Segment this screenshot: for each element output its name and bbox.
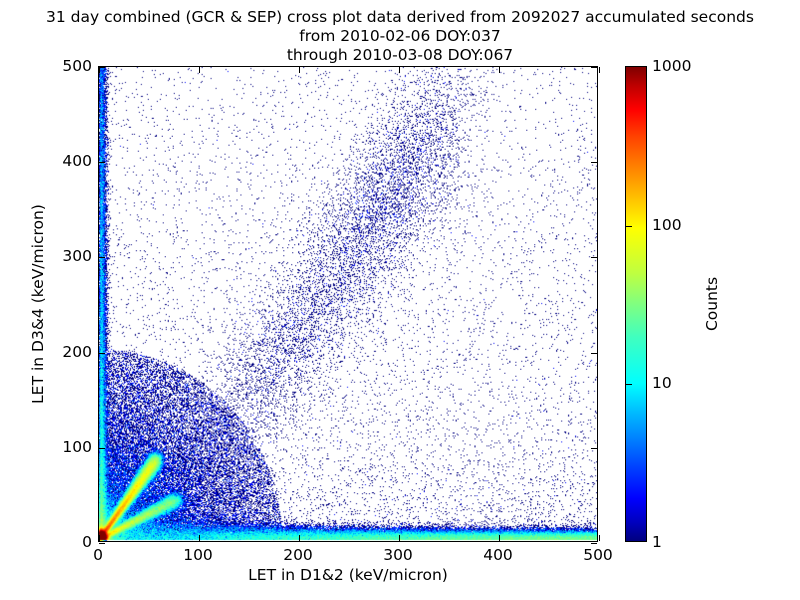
x-tick: [99, 535, 100, 541]
title-line-2: from 2010-02-06 DOY:037: [0, 27, 800, 46]
x-tick-label: 300: [383, 546, 413, 564]
y-tick-label: 0: [82, 533, 92, 551]
y-tick: [99, 257, 105, 258]
scatter-heatmap-canvas: [99, 67, 597, 541]
y-tick: [591, 543, 597, 544]
x-tick-label: 200: [283, 546, 313, 564]
x-tick: [199, 67, 200, 73]
y-tick: [99, 543, 105, 544]
y-tick: [591, 353, 597, 354]
figure: 31 day combined (GCR & SEP) cross plot d…: [0, 0, 800, 600]
y-tick-label: 300: [62, 247, 92, 265]
y-tick-label: 100: [62, 438, 92, 456]
x-axis-label: LET in D1&2 (keV/micron): [98, 566, 598, 584]
colorbar-tick: [626, 226, 632, 227]
x-tick: [599, 535, 600, 541]
y-tick-label: 500: [62, 57, 92, 75]
colorbar-tick-label: 1000: [652, 57, 691, 75]
colorbar-axis-label: Counts: [703, 277, 721, 331]
x-tick-label: 100: [183, 546, 213, 564]
y-axis-label: LET in D3&4 (keV/micron): [29, 204, 47, 404]
plot-axes: [98, 66, 598, 542]
x-tick: [399, 67, 400, 73]
x-tick: [299, 535, 300, 541]
y-tick: [99, 353, 105, 354]
x-tick: [499, 535, 500, 541]
x-tick: [499, 67, 500, 73]
y-tick: [591, 162, 597, 163]
x-tick: [199, 535, 200, 541]
y-tick: [591, 67, 597, 68]
colorbar-tick: [626, 384, 632, 385]
x-tick: [299, 67, 300, 73]
x-tick: [599, 67, 600, 73]
y-tick: [99, 67, 105, 68]
x-tick: [399, 535, 400, 541]
y-tick-label: 200: [62, 343, 92, 361]
colorbar-tick-label: 100: [652, 216, 682, 234]
y-tick-label: 400: [62, 152, 92, 170]
x-tick-label: 400: [483, 546, 513, 564]
y-tick: [591, 448, 597, 449]
title-line-1: 31 day combined (GCR & SEP) cross plot d…: [0, 8, 800, 27]
x-tick-label: 0: [93, 546, 103, 564]
colorbar-tick-label: 1: [652, 533, 662, 551]
y-tick: [99, 448, 105, 449]
colorbar-tick-label: 10: [652, 374, 672, 392]
y-tick: [591, 257, 597, 258]
x-tick-label: 500: [583, 546, 613, 564]
y-tick: [99, 162, 105, 163]
colorbar-gradient: [625, 66, 647, 542]
